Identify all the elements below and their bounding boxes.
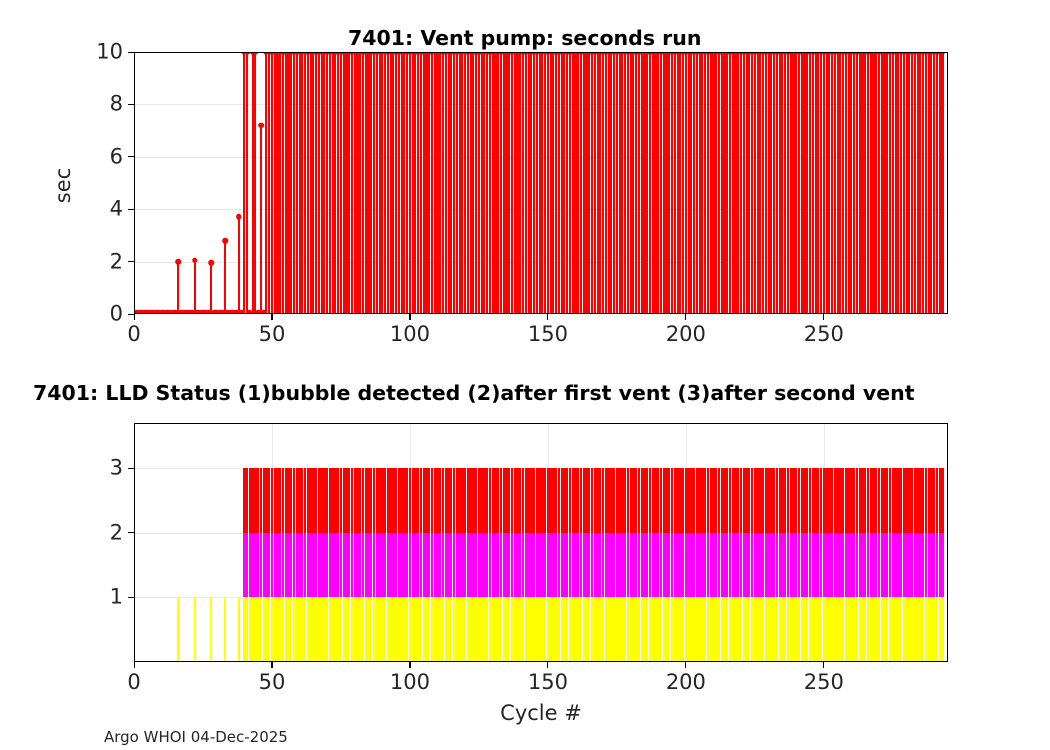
data-stem [271, 52, 273, 314]
data-stem [522, 52, 524, 314]
data-stem [693, 52, 695, 314]
data-point-marker [261, 310, 267, 314]
data-stem [260, 125, 262, 314]
data-stem [525, 52, 527, 314]
data-stem [252, 52, 254, 314]
figure-canvas: 7401: Vent pump: seconds run sec 0246810… [0, 0, 1050, 750]
y-axis-tick-label: 10 [96, 42, 123, 63]
data-stem [632, 52, 634, 314]
x-axis-tick [823, 314, 824, 320]
data-stem [710, 52, 712, 314]
data-stem [886, 52, 888, 314]
stacked-bar-segment [941, 468, 943, 533]
data-stem [723, 52, 725, 314]
lld-status-plot-area [134, 423, 948, 662]
data-stem [605, 52, 607, 314]
data-stem [310, 52, 312, 314]
data-point-marker [236, 214, 242, 220]
stacked-bar-segment [177, 597, 179, 662]
data-stem [790, 52, 792, 314]
y-axis-tick-label: 2 [110, 522, 123, 543]
data-stem [511, 52, 513, 314]
x-axis-tick-label: 0 [127, 672, 140, 693]
vent-pump-plot-axes[interactable]: 0246810050100150200250 [134, 52, 948, 314]
y-axis-tick-label: 6 [110, 146, 123, 167]
data-stem [580, 52, 582, 314]
data-stem [748, 52, 750, 314]
data-stem [345, 52, 347, 314]
data-stem [624, 52, 626, 314]
data-stem [881, 52, 883, 314]
data-stem [572, 52, 574, 314]
data-stem [839, 52, 841, 314]
data-stem [795, 52, 797, 314]
data-stem [831, 52, 833, 314]
stacked-bar [194, 597, 196, 662]
data-stem [359, 52, 361, 314]
y-axis-tick-label: 1 [110, 587, 123, 608]
data-stem [290, 52, 292, 314]
data-stem [892, 52, 894, 314]
data-stem [826, 52, 828, 314]
data-stem [428, 52, 430, 314]
data-stem [381, 52, 383, 314]
data-stem [660, 52, 662, 314]
y-axis-tick-label: 4 [110, 199, 123, 220]
data-stem [812, 52, 814, 314]
data-stem [878, 52, 880, 314]
data-stem [652, 52, 654, 314]
data-stem [481, 52, 483, 314]
data-stem [312, 52, 314, 314]
data-stem [387, 52, 389, 314]
data-stem [279, 52, 281, 314]
data-stem [608, 52, 610, 314]
data-stem [798, 52, 800, 314]
data-stem [395, 52, 397, 314]
data-stem [641, 52, 643, 314]
data-stem [757, 52, 759, 314]
data-point-marker [222, 238, 228, 244]
x-axis-tick-label: 200 [666, 324, 706, 345]
data-stem [467, 52, 469, 314]
data-stem [450, 52, 452, 314]
data-stem [539, 52, 541, 314]
data-stem [177, 262, 179, 314]
vent-pump-y-axis-label: sec [53, 168, 74, 203]
y-axis-tick [128, 468, 134, 469]
data-stem [508, 52, 510, 314]
data-stem [906, 52, 908, 314]
data-stem [762, 52, 764, 314]
data-stem [837, 52, 839, 314]
data-stem [299, 52, 301, 314]
data-stem [619, 52, 621, 314]
data-stem [914, 52, 916, 314]
data-stem [406, 52, 408, 314]
data-stem [936, 52, 938, 314]
data-stem [770, 52, 772, 314]
data-stem [544, 52, 546, 314]
data-stem [872, 52, 874, 314]
data-stem [470, 52, 472, 314]
data-stem [552, 52, 554, 314]
data-stem [729, 52, 731, 314]
x-axis-tick [409, 314, 410, 320]
y-axis-tick [128, 209, 134, 210]
data-stem [536, 52, 538, 314]
x-axis-tick [271, 662, 272, 668]
data-stem [456, 52, 458, 314]
data-stem [696, 52, 698, 314]
data-point-marker [208, 260, 214, 266]
data-stem [859, 52, 861, 314]
data-stem [423, 52, 425, 314]
x-axis-tick [134, 662, 135, 668]
x-axis-tick [685, 314, 686, 320]
data-stem [318, 52, 320, 314]
data-stem [238, 217, 240, 314]
data-stem [246, 52, 248, 314]
data-stem [210, 263, 212, 314]
data-point-marker [192, 258, 198, 264]
data-stem [340, 52, 342, 314]
stacked-bar-segment [941, 597, 943, 662]
data-stem [627, 52, 629, 314]
data-stem [420, 52, 422, 314]
data-stem [900, 52, 902, 314]
data-stem [809, 52, 811, 314]
figure-footer-note: Argo WHOI 04-Dec-2025 [104, 730, 288, 745]
data-stem [682, 52, 684, 314]
data-stem [751, 52, 753, 314]
data-stem [409, 52, 411, 314]
data-stem [734, 52, 736, 314]
data-stem [577, 52, 579, 314]
data-stem [895, 52, 897, 314]
data-stem [434, 52, 436, 314]
data-stem [367, 52, 369, 314]
data-stem [354, 52, 356, 314]
data-point-marker [175, 259, 181, 265]
stacked-bar [224, 597, 226, 662]
x-axis-tick [409, 662, 410, 668]
data-stem [566, 52, 568, 314]
lld-status-chart-title: 7401: LLD Status (1)bubble detected (2)a… [33, 383, 915, 404]
y-axis-tick-label: 2 [110, 251, 123, 272]
x-axis-tick-label: 150 [528, 324, 568, 345]
data-stem [563, 52, 565, 314]
data-stem [194, 260, 196, 314]
stacked-bar-segment [941, 533, 943, 598]
data-stem [941, 52, 943, 314]
data-stem [817, 52, 819, 314]
data-stem [679, 52, 681, 314]
x-axis-tick-label: 150 [528, 672, 568, 693]
data-stem [442, 52, 444, 314]
data-stem [558, 52, 560, 314]
x-axis-tick-label: 200 [666, 672, 706, 693]
x-axis-tick [685, 662, 686, 668]
stacked-bar [941, 468, 943, 662]
data-stem [373, 52, 375, 314]
data-stem [613, 52, 615, 314]
data-stem [867, 52, 869, 314]
data-stem [784, 52, 786, 314]
data-stem [922, 52, 924, 314]
data-stem [293, 52, 295, 314]
stacked-bar [177, 597, 179, 662]
data-stem [503, 52, 505, 314]
data-point-marker [247, 310, 253, 314]
data-stem [323, 52, 325, 314]
data-stem [379, 52, 381, 314]
data-stem [737, 52, 739, 314]
x-axis-tick-label: 100 [390, 324, 430, 345]
data-point-marker [239, 310, 245, 314]
data-stem [908, 52, 910, 314]
x-axis-tick-label: 50 [259, 324, 286, 345]
x-axis-tick [134, 314, 135, 320]
data-stem [654, 52, 656, 314]
data-stem [489, 52, 491, 314]
data-stem [707, 52, 709, 314]
data-stem [721, 52, 723, 314]
data-point-marker [940, 52, 946, 55]
y-axis-tick [128, 597, 134, 598]
x-axis-tick-label: 100 [390, 672, 430, 693]
data-stem [550, 52, 552, 314]
data-stem [414, 52, 416, 314]
data-stem [928, 52, 930, 314]
data-stem [530, 52, 532, 314]
stacked-bar-segment [238, 597, 240, 662]
vent-pump-chart-title: 7401: Vent pump: seconds run [348, 28, 701, 49]
data-stem [715, 52, 717, 314]
data-stem [243, 52, 245, 314]
cycle-number-x-axis-label: Cycle # [441, 703, 641, 724]
data-stem [332, 52, 334, 314]
y-axis-tick [128, 261, 134, 262]
data-stem [594, 52, 596, 314]
y-axis-tick [128, 52, 134, 53]
data-stem [436, 52, 438, 314]
x-axis-tick [547, 662, 548, 668]
data-stem [448, 52, 450, 314]
y-axis-tick-label: 8 [110, 94, 123, 115]
data-stem [497, 52, 499, 314]
data-stem [776, 52, 778, 314]
data-stem [276, 52, 278, 314]
stacked-bar [238, 597, 240, 662]
y-axis-tick [128, 104, 134, 105]
data-stem [326, 52, 328, 314]
data-stem [765, 52, 767, 314]
data-stem [392, 52, 394, 314]
vent-pump-plot-area [134, 52, 948, 314]
data-stem [365, 52, 367, 314]
data-stem [224, 241, 226, 314]
y-axis-tick-label: 0 [110, 304, 123, 325]
data-stem [919, 52, 921, 314]
data-stem [494, 52, 496, 314]
data-stem [351, 52, 353, 314]
data-stem [585, 52, 587, 314]
stacked-bar-segment [224, 597, 226, 662]
data-stem [483, 52, 485, 314]
data-stem [668, 52, 670, 314]
stacked-bar-segment [210, 597, 212, 662]
data-stem [599, 52, 601, 314]
data-stem [665, 52, 667, 314]
data-stem [254, 52, 256, 314]
data-point-marker [258, 123, 264, 129]
x-axis-tick-label: 250 [804, 672, 844, 693]
data-stem [864, 52, 866, 314]
data-stem [688, 52, 690, 314]
y-axis-tick [128, 156, 134, 157]
lld-status-plot-axes[interactable]: 123050100150200250 [134, 423, 948, 662]
data-stem [779, 52, 781, 314]
y-axis-tick [128, 532, 134, 533]
data-stem [823, 52, 825, 314]
x-axis-tick-label: 0 [127, 324, 140, 345]
data-stem [265, 52, 267, 314]
x-axis-tick [823, 662, 824, 668]
data-stem [803, 52, 805, 314]
stacked-bar [210, 597, 212, 662]
data-point-marker [253, 52, 259, 55]
data-stem [853, 52, 855, 314]
data-stem [701, 52, 703, 314]
stacked-bar-segment [194, 597, 196, 662]
data-stem [304, 52, 306, 314]
data-stem [674, 52, 676, 314]
data-stem [475, 52, 477, 314]
x-axis-tick [547, 314, 548, 320]
x-axis-tick-label: 250 [804, 324, 844, 345]
data-stem [337, 52, 339, 314]
data-stem [933, 52, 935, 314]
data-stem [591, 52, 593, 314]
data-stem [516, 52, 518, 314]
x-axis-tick-label: 50 [259, 672, 286, 693]
data-stem [638, 52, 640, 314]
data-stem [845, 52, 847, 314]
y-axis-tick-label: 3 [110, 458, 123, 479]
data-stem [285, 52, 287, 314]
data-stem [743, 52, 745, 314]
data-stem [401, 52, 403, 314]
data-stem [646, 52, 648, 314]
x-axis-tick [271, 314, 272, 320]
data-stem [461, 52, 463, 314]
data-stem [850, 52, 852, 314]
